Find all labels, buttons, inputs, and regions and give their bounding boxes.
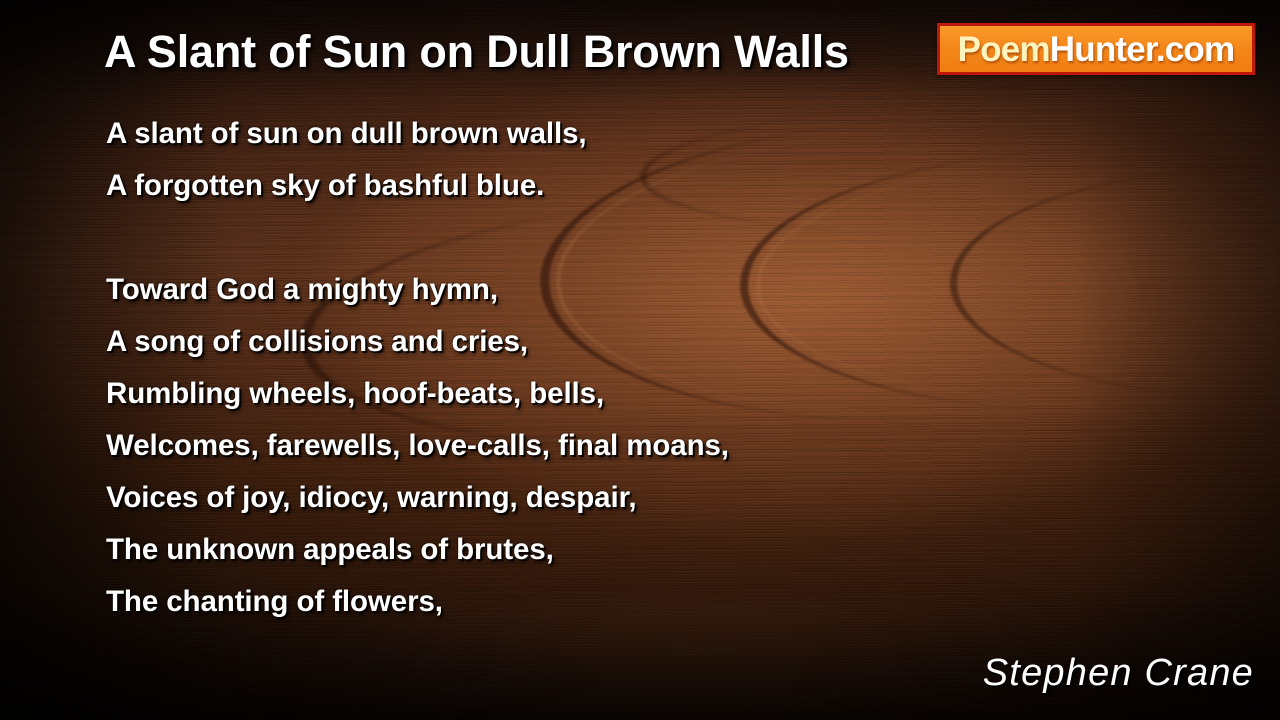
poem-line: The unknown appeals of brutes, [106, 524, 926, 576]
poemhunter-logo-badge[interactable]: PoemHunter.com [937, 23, 1255, 75]
poem-line: Voices of joy, idiocy, warning, despair, [106, 472, 926, 524]
poem-stanza-break [106, 212, 926, 264]
poemhunter-logo-text: PoemHunter.com [958, 32, 1235, 67]
poem-line: Rumbling wheels, hoof-beats, bells, [106, 368, 926, 420]
poem-line: A slant of sun on dull brown walls, [106, 108, 926, 160]
author-name: Stephen Crane [983, 652, 1254, 695]
poem-line: Welcomes, farewells, love-calls, final m… [106, 420, 926, 472]
poem-slide: A Slant of Sun on Dull Brown Walls A sla… [0, 0, 1280, 720]
poem-line: The chanting of flowers, [106, 576, 926, 628]
page-title: A Slant of Sun on Dull Brown Walls [104, 26, 849, 78]
poem-line: Toward God a mighty hymn, [106, 264, 926, 316]
poem-text: A slant of sun on dull brown walls, A fo… [106, 108, 926, 628]
poem-line: A forgotten sky of bashful blue. [106, 160, 926, 212]
poem-line: A song of collisions and cries, [106, 316, 926, 368]
logo-word-hunter: Hunter.com [1050, 30, 1235, 69]
logo-word-poem: Poem [958, 30, 1050, 69]
